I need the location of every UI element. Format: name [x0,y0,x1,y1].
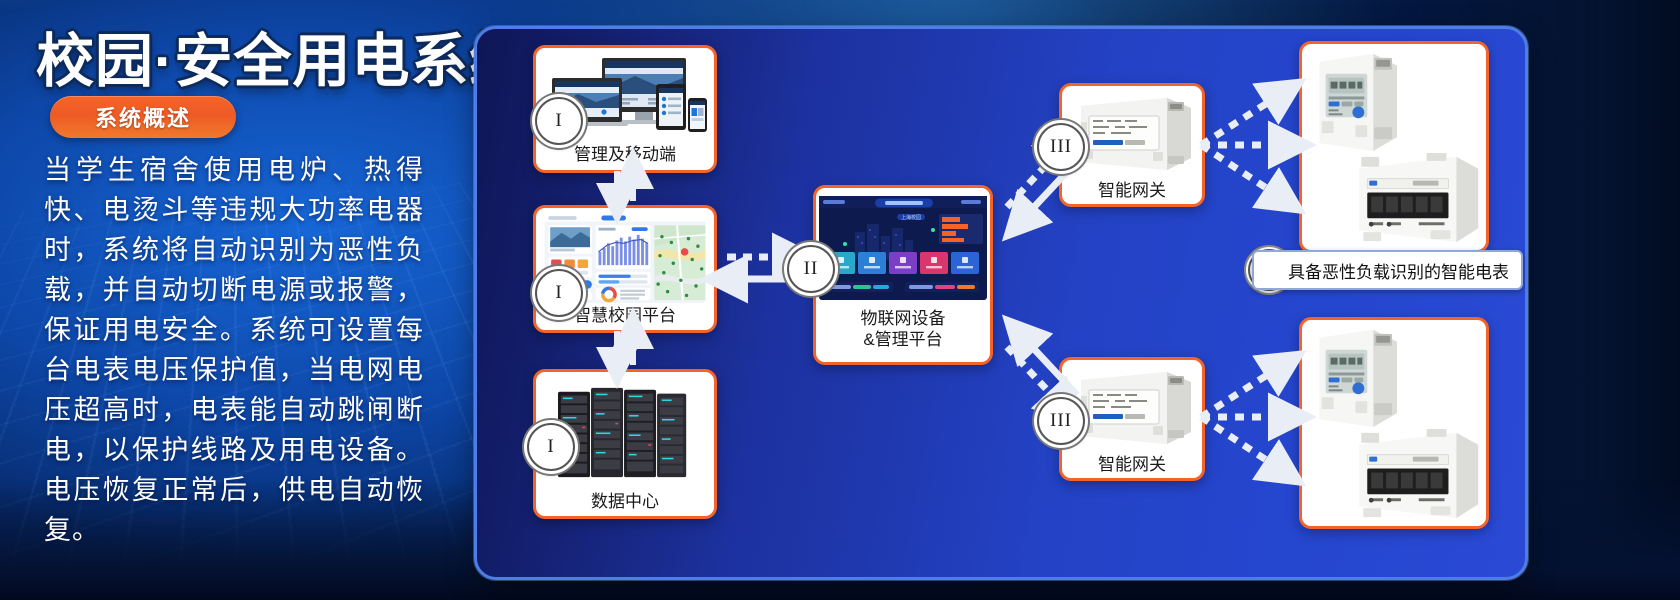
connector-gateway-top-to-meters [1201,93,1289,199]
numeral-badge-smart-campus: I [535,269,583,317]
architecture-diagram-panel: 管理及移动端 I [474,26,1528,580]
connector-admin-to-campus [617,171,633,201]
connector-layer [477,29,1525,577]
numeral-badge-data-center: I [527,423,575,471]
meter-legend-pill[interactable]: 具备恶性负载识别的智能电表 [1252,250,1523,290]
section-badge-label: 系统概述 [95,101,191,133]
connector-gateway-bottom-to-meters [1201,365,1289,471]
meter-legend-label: 具备恶性负载识别的智能电表 [1288,258,1509,283]
page-title: 校园·安全用电系统 [36,14,528,98]
numeral-badge-iot-platform: II [787,245,835,293]
connector-campus-to-iot [727,257,793,279]
connector-iot-to-gateway-bottom [1007,335,1077,407]
section-badge: 系统概述 [50,96,236,138]
numeral-badge-gateway-top: III [1037,123,1085,171]
overview-paragraph: 当学生宿舍使用电炉、热得快、电烫斗等违规大功率电器时，系统将自动识别为恶性负载，… [44,150,424,550]
intro-column: 校园·安全用电系统 系统概述 当学生宿舍使用电炉、热得快、电烫斗等违规大功率电器… [0,0,470,600]
numeral-badge-admin-mobile: I [535,97,583,145]
numeral-badge-gateway-bottom: III [1037,397,1085,445]
connector-campus-to-datacenter [617,331,633,365]
